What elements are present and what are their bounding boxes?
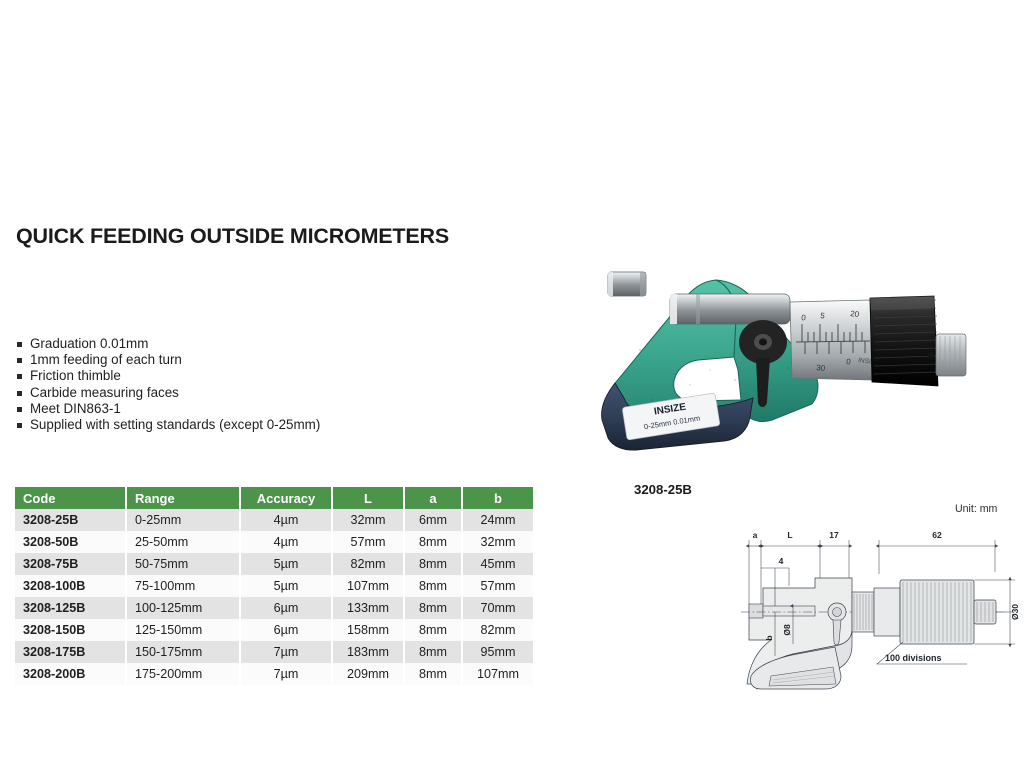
feature-text: Carbide measuring faces — [30, 385, 179, 401]
cell-l: 57mm — [332, 531, 404, 553]
cell-range: 150-175mm — [126, 641, 240, 663]
table-row: 3208-175B 150-175mm 7µm 183mm 8mm 95mm — [15, 641, 533, 663]
cell-accuracy: 7µm — [240, 641, 332, 663]
list-item: Supplied with setting standards (except … — [17, 417, 447, 433]
square-bullet-icon — [17, 358, 22, 363]
column-header-code: Code — [15, 487, 126, 509]
table-row: 3208-50B 25-50mm 4µm 57mm 8mm 32mm — [15, 531, 533, 553]
cell-range: 100-125mm — [126, 597, 240, 619]
list-item: Friction thimble — [17, 368, 447, 384]
product-photo: INSIZE 0-25mm 0.01mm — [520, 250, 990, 465]
list-item: Carbide measuring faces — [17, 385, 447, 401]
sleeve-number: 30 — [816, 363, 826, 373]
cell-code: 3208-175B — [15, 641, 126, 663]
feature-text: Meet DIN863-1 — [30, 401, 121, 417]
cell-range: 25-50mm — [126, 531, 240, 553]
cell-range: 50-75mm — [126, 553, 240, 575]
square-bullet-icon — [17, 342, 22, 347]
dimension-label-L: L — [787, 530, 792, 540]
square-bullet-icon — [17, 374, 22, 379]
cell-accuracy: 6µm — [240, 619, 332, 641]
cell-code: 3208-200B — [15, 663, 126, 685]
table-row: 3208-25B 0-25mm 4µm 32mm 6mm 24mm — [15, 509, 533, 531]
specification-table: Code Range Accuracy L a b 3208-25B 0-25m… — [15, 487, 533, 685]
column-header-a: a — [404, 487, 462, 509]
cell-a: 8mm — [404, 663, 462, 685]
cell-accuracy: 5µm — [240, 553, 332, 575]
cell-a: 8mm — [404, 597, 462, 619]
sleeve-scale: 0 5 20 0 30 INSIZE — [790, 300, 880, 380]
table-row: 3208-200B 175-200mm 7µm 209mm 8mm 107mm — [15, 663, 533, 685]
cell-code: 3208-125B — [15, 597, 126, 619]
table-header-row: Code Range Accuracy L a b — [15, 487, 533, 509]
cell-a: 8mm — [404, 553, 462, 575]
feature-text: Supplied with setting standards (except … — [30, 417, 320, 433]
column-header-range: Range — [126, 487, 240, 509]
cell-b: 82mm — [462, 619, 533, 641]
cell-b: 57mm — [462, 575, 533, 597]
cell-code: 3208-100B — [15, 575, 126, 597]
dimension-label-a: a — [753, 530, 758, 540]
cell-accuracy: 6µm — [240, 597, 332, 619]
dimension-label-dia8: Ø8 — [782, 624, 792, 636]
sleeve-section — [852, 588, 900, 636]
list-item: 1mm feeding of each turn — [17, 352, 447, 368]
cell-l: 158mm — [332, 619, 404, 641]
dimension-label-62: 62 — [932, 530, 942, 540]
cell-accuracy: 4µm — [240, 531, 332, 553]
cell-l: 107mm — [332, 575, 404, 597]
dimension-label-b: b — [764, 635, 774, 640]
cell-b: 32mm — [462, 531, 533, 553]
feature-text: 1mm feeding of each turn — [30, 352, 182, 368]
cell-a: 8mm — [404, 575, 462, 597]
cell-a: 8mm — [404, 619, 462, 641]
table-row: 3208-125B 100-125mm 6µm 133mm 8mm 70mm — [15, 597, 533, 619]
column-header-accuracy: Accuracy — [240, 487, 332, 509]
thimble — [870, 296, 938, 386]
cell-b: 24mm — [462, 509, 533, 531]
cell-code: 3208-150B — [15, 619, 126, 641]
table-row: 3208-75B 50-75mm 5µm 82mm 8mm 45mm — [15, 553, 533, 575]
dimension-label-17: 17 — [829, 530, 839, 540]
table-row: 3208-150B 125-150mm 6µm 158mm 8mm 82mm — [15, 619, 533, 641]
list-item: Graduation 0.01mm — [17, 336, 447, 352]
cell-accuracy: 5µm — [240, 575, 332, 597]
anvil — [608, 272, 646, 296]
square-bullet-icon — [17, 423, 22, 428]
cell-range: 125-150mm — [126, 619, 240, 641]
cell-l: 133mm — [332, 597, 404, 619]
cell-l: 82mm — [332, 553, 404, 575]
column-header-b: b — [462, 487, 533, 509]
sleeve-number: 20 — [850, 309, 860, 319]
cell-code: 3208-50B — [15, 531, 126, 553]
cell-l: 183mm — [332, 641, 404, 663]
square-bullet-icon — [17, 391, 22, 396]
list-item: Meet DIN863-1 — [17, 401, 447, 417]
cell-a: 8mm — [404, 531, 462, 553]
cell-b: 95mm — [462, 641, 533, 663]
cell-l: 209mm — [332, 663, 404, 685]
cell-accuracy: 4µm — [240, 509, 332, 531]
cell-l: 32mm — [332, 509, 404, 531]
feature-list: Graduation 0.01mm 1mm feeding of each tu… — [17, 336, 447, 433]
cell-accuracy: 7µm — [240, 663, 332, 685]
cell-b: 107mm — [462, 663, 533, 685]
cell-range: 0-25mm — [126, 509, 240, 531]
dimension-label-dia30: Ø30 — [1010, 604, 1020, 620]
dimension-four — [761, 568, 789, 586]
cell-a: 8mm — [404, 641, 462, 663]
feature-text: Graduation 0.01mm — [30, 336, 148, 352]
page-title: QUICK FEEDING OUTSIDE MICROMETERS — [16, 224, 449, 249]
cell-b: 70mm — [462, 597, 533, 619]
cell-range: 75-100mm — [126, 575, 240, 597]
unit-note: Unit: mm — [955, 503, 997, 515]
thimble-section — [900, 580, 1005, 644]
cell-range: 175-200mm — [126, 663, 240, 685]
cell-code: 3208-25B — [15, 509, 126, 531]
dimension-label-4: 4 — [779, 556, 784, 566]
cell-a: 6mm — [404, 509, 462, 531]
square-bullet-icon — [17, 407, 22, 412]
cell-code: 3208-75B — [15, 553, 126, 575]
cell-b: 45mm — [462, 553, 533, 575]
photo-caption: 3208-25B — [634, 482, 692, 497]
feature-text: Friction thimble — [30, 368, 121, 384]
column-header-l: L — [332, 487, 404, 509]
spindle — [670, 294, 790, 324]
table-row: 3208-100B 75-100mm 5µm 107mm 8mm 57mm — [15, 575, 533, 597]
annotation-100-divisions: 100 divisions — [885, 653, 942, 663]
technical-drawing: a L 17 62 4 b Ø8 Ø30 100 divisions — [727, 526, 1024, 691]
